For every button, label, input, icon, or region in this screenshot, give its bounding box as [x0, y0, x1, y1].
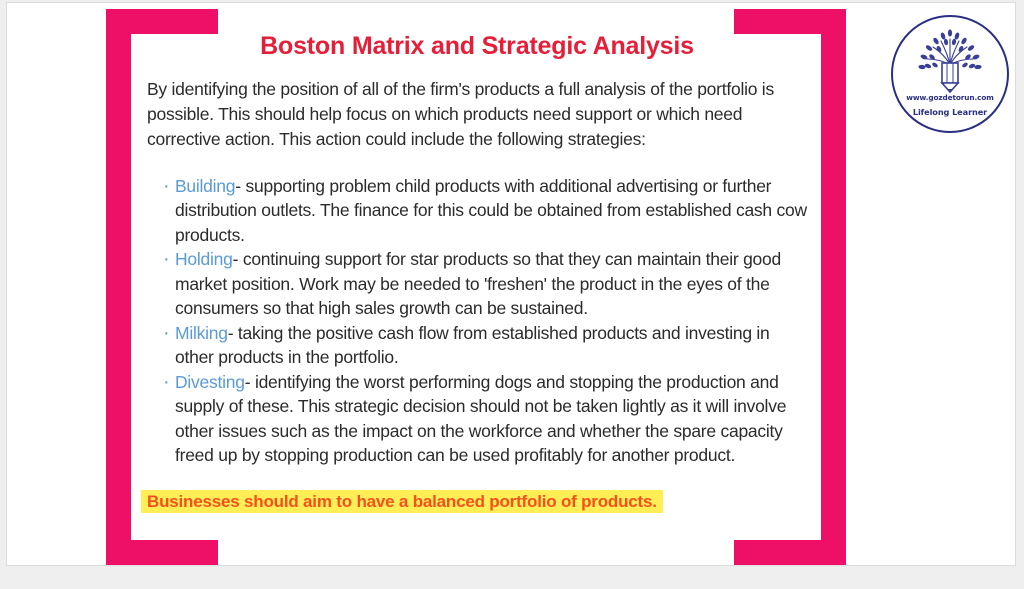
strategy-keyword: Divesting	[175, 372, 245, 392]
slide-canvas: Boston Matrix and Strategic Analysis By …	[6, 2, 1016, 566]
slide-content: Boston Matrix and Strategic Analysis By …	[147, 31, 807, 516]
strategy-separator: -	[228, 323, 234, 343]
frame-bar-right	[821, 9, 846, 565]
frame-bar-left	[106, 9, 131, 565]
logo-url-text: www.gozdetorun.com	[891, 93, 1009, 102]
list-item: Milking- taking the positive cash flow f…	[163, 321, 807, 370]
frame-corner-bottom-right	[734, 540, 846, 565]
frame-corner-bottom-left	[106, 540, 218, 565]
strategy-description: supporting problem child products with a…	[175, 176, 807, 245]
slide-title: Boston Matrix and Strategic Analysis	[147, 31, 807, 61]
list-item: Holding- continuing support for star pro…	[163, 247, 807, 321]
strategy-description: identifying the worst performing dogs an…	[175, 372, 786, 466]
intro-paragraph: By identifying the position of all of th…	[147, 77, 807, 152]
strategy-keyword: Building	[175, 176, 235, 196]
site-logo: www.gozdetorun.com Lifelong Learner	[891, 15, 1009, 133]
conclusion-highlight: Businesses should aim to have a balanced…	[147, 490, 657, 513]
list-item: Divesting- identifying the worst perform…	[163, 370, 807, 468]
conclusion-wrapper: Businesses should aim to have a balanced…	[147, 488, 807, 517]
strategy-separator: -	[233, 249, 239, 269]
strategy-list: Building- supporting problem child produ…	[147, 174, 807, 468]
strategy-keyword: Milking	[175, 323, 228, 343]
strategy-description: continuing support for star products so …	[175, 249, 781, 318]
strategy-keyword: Holding	[175, 249, 233, 269]
strategy-separator: -	[235, 176, 241, 196]
pencil-sparks-icon	[913, 29, 987, 95]
strategy-description: taking the positive cash flow from estab…	[175, 323, 770, 368]
list-item: Building- supporting problem child produ…	[163, 174, 807, 248]
strategy-separator: -	[245, 372, 251, 392]
logo-tagline-text: Lifelong Learner	[891, 107, 1009, 117]
